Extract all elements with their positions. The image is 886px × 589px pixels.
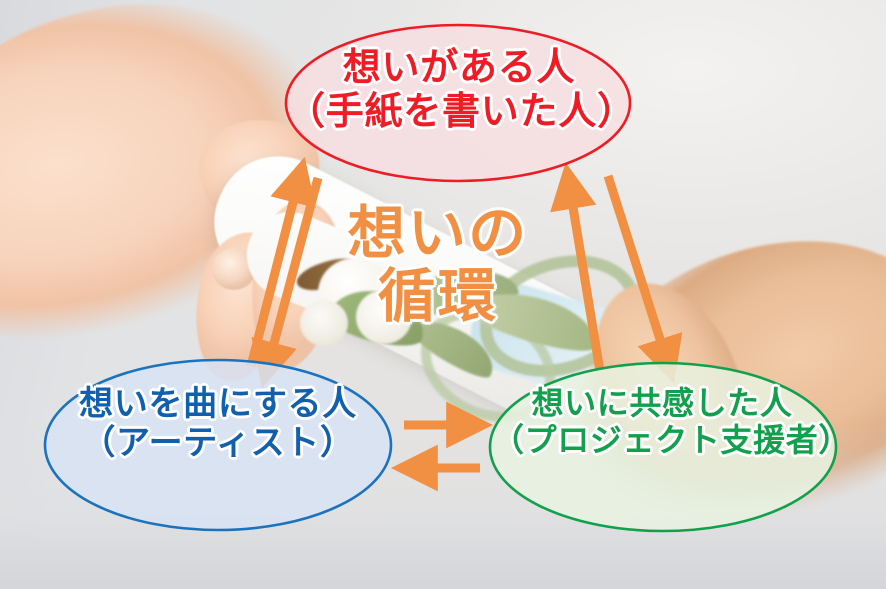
node-label-supporter-line2: （プロジェクト支援者） <box>492 422 832 459</box>
node-label-supporter-line1: 想いに共感した人 <box>492 385 832 422</box>
node-label-origin-line1: 想いがある人 <box>287 45 631 89</box>
diagram-canvas: 想いがある人 （手紙を書いた人） 想いを曲にする人 （アーティスト） 想いに共感… <box>0 0 886 589</box>
node-label-artist: 想いを曲にする人 （アーティスト） <box>48 385 388 464</box>
arrow-supporter-to-origin <box>570 189 600 371</box>
node-label-artist-line1: 想いを曲にする人 <box>48 385 388 424</box>
center-title-line2: 循環 <box>318 265 558 328</box>
arrow-group-artist-supporter <box>404 425 480 468</box>
arrow-group-origin-artist <box>251 178 318 366</box>
node-label-origin: 想いがある人 （手紙を書いた人） <box>287 45 631 133</box>
node-label-artist-line2: （アーティスト） <box>48 424 388 463</box>
arrow-group-origin-supporter <box>570 176 666 371</box>
node-label-origin-line2: （手紙を書いた人） <box>287 89 631 133</box>
node-label-supporter: 想いに共感した人 （プロジェクト支援者） <box>492 385 832 459</box>
center-title-line1: 想いの <box>318 202 558 265</box>
arrow-origin-to-supporter <box>608 176 666 358</box>
center-title: 想いの 循環 <box>318 202 558 327</box>
